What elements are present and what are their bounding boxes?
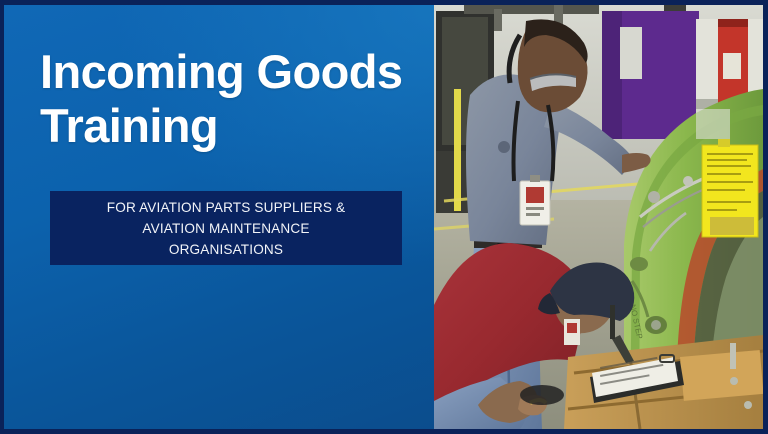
photo-illustration: NO STEP bbox=[434, 5, 763, 429]
curtain-gap-light bbox=[620, 27, 642, 79]
kneeling-worker-shoe bbox=[520, 385, 564, 405]
cabinet-top-trim bbox=[718, 19, 748, 27]
beam-support bbox=[494, 9, 502, 31]
clipboard-clamp bbox=[660, 355, 674, 362]
nacelle-port-center bbox=[651, 320, 661, 330]
tag-attachment bbox=[718, 139, 730, 147]
pallet-bolt-2 bbox=[744, 401, 752, 409]
frame-edge-left bbox=[0, 0, 4, 434]
subtitle-text: FOR AVIATION PARTS SUPPLIERS & AVIATION … bbox=[107, 197, 345, 260]
presentation-slide: Incoming Goods Training FOR AVIATION PAR… bbox=[0, 0, 768, 434]
extinguisher-label bbox=[723, 53, 741, 79]
plastic-document-pouch bbox=[696, 109, 730, 139]
nacelle-fitting bbox=[648, 191, 660, 203]
page-title: Incoming Goods Training bbox=[40, 45, 430, 153]
tag-lower-block bbox=[710, 217, 754, 235]
ceiling-beam bbox=[464, 5, 599, 14]
hangar-inspection-photo: NO STEP bbox=[434, 5, 763, 429]
shirt-logo bbox=[498, 141, 510, 153]
pallet-pin bbox=[730, 343, 736, 369]
nacelle-fitting-2 bbox=[683, 176, 693, 186]
pallet-block bbox=[680, 350, 763, 401]
support-rod bbox=[610, 305, 615, 339]
frame-edge-bottom bbox=[0, 429, 768, 434]
title-panel: Incoming Goods Training FOR AVIATION PAR… bbox=[4, 5, 434, 429]
badge-line-2 bbox=[526, 213, 540, 216]
yellow-floor-post bbox=[454, 89, 461, 211]
kneeling-badge-photo bbox=[567, 323, 577, 333]
frame-edge-top bbox=[0, 0, 768, 5]
pallet-bolt bbox=[730, 377, 738, 385]
badge-line bbox=[526, 207, 544, 210]
badge-clip bbox=[530, 175, 540, 182]
frame-edge-right bbox=[763, 0, 768, 434]
nacelle-port bbox=[630, 257, 648, 271]
subtitle-banner: FOR AVIATION PARTS SUPPLIERS & AVIATION … bbox=[50, 191, 402, 265]
curtain-fold bbox=[602, 11, 622, 139]
badge-photo bbox=[526, 187, 544, 203]
